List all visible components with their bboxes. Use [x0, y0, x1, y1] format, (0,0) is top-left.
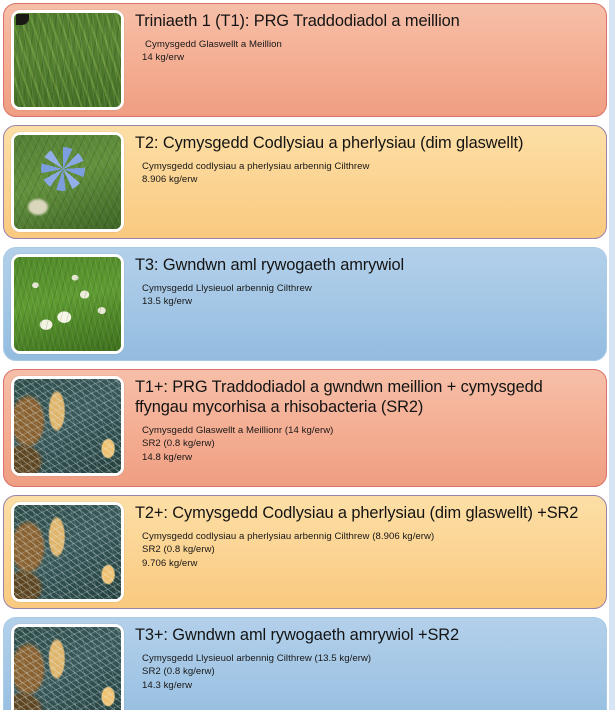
- chicory-flower-photo: [14, 135, 121, 229]
- treatment-detail-line: Cymysgedd Glaswellt a Meillion: [142, 38, 598, 51]
- treatment-card-t2[interactable]: T2: Cymysgedd Codlysiau a pherlysiau (di…: [3, 125, 607, 239]
- treatment-detail-line: Cymysgedd Glaswellt a Meillionr (14 kg/e…: [142, 424, 598, 437]
- treatment-card-t1[interactable]: Triniaeth 1 (T1): PRG Traddodiadol a mei…: [3, 3, 607, 117]
- treatment-detail-lines: Cymysgedd Glaswellt a Meillion 14 kg/erw: [135, 38, 598, 65]
- treatment-thumbnail-frame: [11, 624, 124, 710]
- treatment-text-block: T2: Cymysgedd Codlysiau a pherlysiau (di…: [124, 132, 598, 187]
- treatment-detail-line: 14.3 kg/erw: [142, 679, 598, 692]
- treatment-detail-lines: Cymysgedd Llysieuol arbennig Cilthrew (1…: [135, 652, 598, 692]
- treatment-card-t3[interactable]: T3: Gwndwn aml rywogaeth amrywiol Cymysg…: [3, 247, 607, 361]
- treatment-card-t3plus[interactable]: T3+: Gwndwn aml rywogaeth amrywiol +SR2 …: [3, 617, 607, 710]
- treatment-title: T2+: Cymysgedd Codlysiau a pherlysiau (d…: [135, 503, 598, 523]
- treatment-detail-line: 9.706 kg/erw: [142, 557, 598, 570]
- treatment-card-t2plus[interactable]: T2+: Cymysgedd Codlysiau a pherlysiau (d…: [3, 495, 607, 609]
- treatment-detail-lines: Cymysgedd Llysieuol arbennig Cilthrew 13…: [135, 282, 598, 309]
- treatment-detail-line: SR2 (0.8 kg/erw): [142, 665, 598, 678]
- slide-right-edge-strip: [609, 0, 615, 710]
- treatment-detail-line: SR2 (0.8 kg/erw): [142, 437, 598, 450]
- treatment-detail-line: SR2 (0.8 kg/erw): [142, 543, 598, 556]
- treatment-text-block: Triniaeth 1 (T1): PRG Traddodiadol a mei…: [124, 10, 598, 65]
- treatment-detail-line: Cymysgedd Llysieuol arbennig Cilthrew: [142, 282, 598, 295]
- treatment-title: Triniaeth 1 (T1): PRG Traddodiadol a mei…: [135, 11, 598, 31]
- mycorrhizal-fungi-photo: [14, 505, 121, 599]
- treatment-title: T3: Gwndwn aml rywogaeth amrywiol: [135, 255, 598, 275]
- treatment-detail-line: Cymysgedd Llysieuol arbennig Cilthrew (1…: [142, 652, 598, 665]
- treatment-card-t1plus[interactable]: T1+: PRG Traddodiadol a gwndwn meillion …: [3, 369, 607, 487]
- treatment-text-block: T1+: PRG Traddodiadol a gwndwn meillion …: [124, 376, 598, 464]
- treatment-list-slide: Triniaeth 1 (T1): PRG Traddodiadol a mei…: [0, 0, 615, 710]
- treatment-text-block: T2+: Cymysgedd Codlysiau a pherlysiau (d…: [124, 502, 598, 570]
- grass-sward-photo: [14, 13, 121, 107]
- treatment-thumbnail-frame: [11, 10, 124, 110]
- treatment-detail-line: 14 kg/erw: [142, 51, 598, 64]
- treatment-detail-lines: Cymysgedd codlysiau a pherlysiau arbenni…: [135, 530, 598, 570]
- treatment-thumbnail-frame: [11, 132, 124, 232]
- treatment-detail-lines: Cymysgedd codlysiau a pherlysiau arbenni…: [135, 160, 598, 187]
- treatment-detail-line: 13.5 kg/erw: [142, 295, 598, 308]
- treatment-title: T3+: Gwndwn aml rywogaeth amrywiol +SR2: [135, 625, 598, 645]
- treatment-detail-line: 8.906 kg/erw: [142, 173, 598, 186]
- mycorrhizal-fungi-photo: [14, 627, 121, 710]
- treatment-detail-line: 14.8 kg/erw: [142, 451, 598, 464]
- treatment-text-block: T3+: Gwndwn aml rywogaeth amrywiol +SR2 …: [124, 624, 598, 692]
- treatment-title: T1+: PRG Traddodiadol a gwndwn meillion …: [135, 377, 598, 417]
- treatment-detail-line: Cymysgedd codlysiau a pherlysiau arbenni…: [142, 160, 598, 173]
- mycorrhizal-fungi-photo: [14, 379, 121, 473]
- treatment-thumbnail-frame: [11, 502, 124, 602]
- treatment-thumbnail-frame: [11, 254, 124, 354]
- treatment-thumbnail-frame: [11, 376, 124, 476]
- treatment-title: T2: Cymysgedd Codlysiau a pherlysiau (di…: [135, 133, 598, 153]
- treatment-detail-lines: Cymysgedd Glaswellt a Meillionr (14 kg/e…: [135, 424, 598, 464]
- treatment-card-list: Triniaeth 1 (T1): PRG Traddodiadol a mei…: [3, 3, 607, 710]
- white-clover-sward-photo: [14, 257, 121, 351]
- treatment-text-block: T3: Gwndwn aml rywogaeth amrywiol Cymysg…: [124, 254, 598, 309]
- treatment-detail-line: Cymysgedd codlysiau a pherlysiau arbenni…: [142, 530, 598, 543]
